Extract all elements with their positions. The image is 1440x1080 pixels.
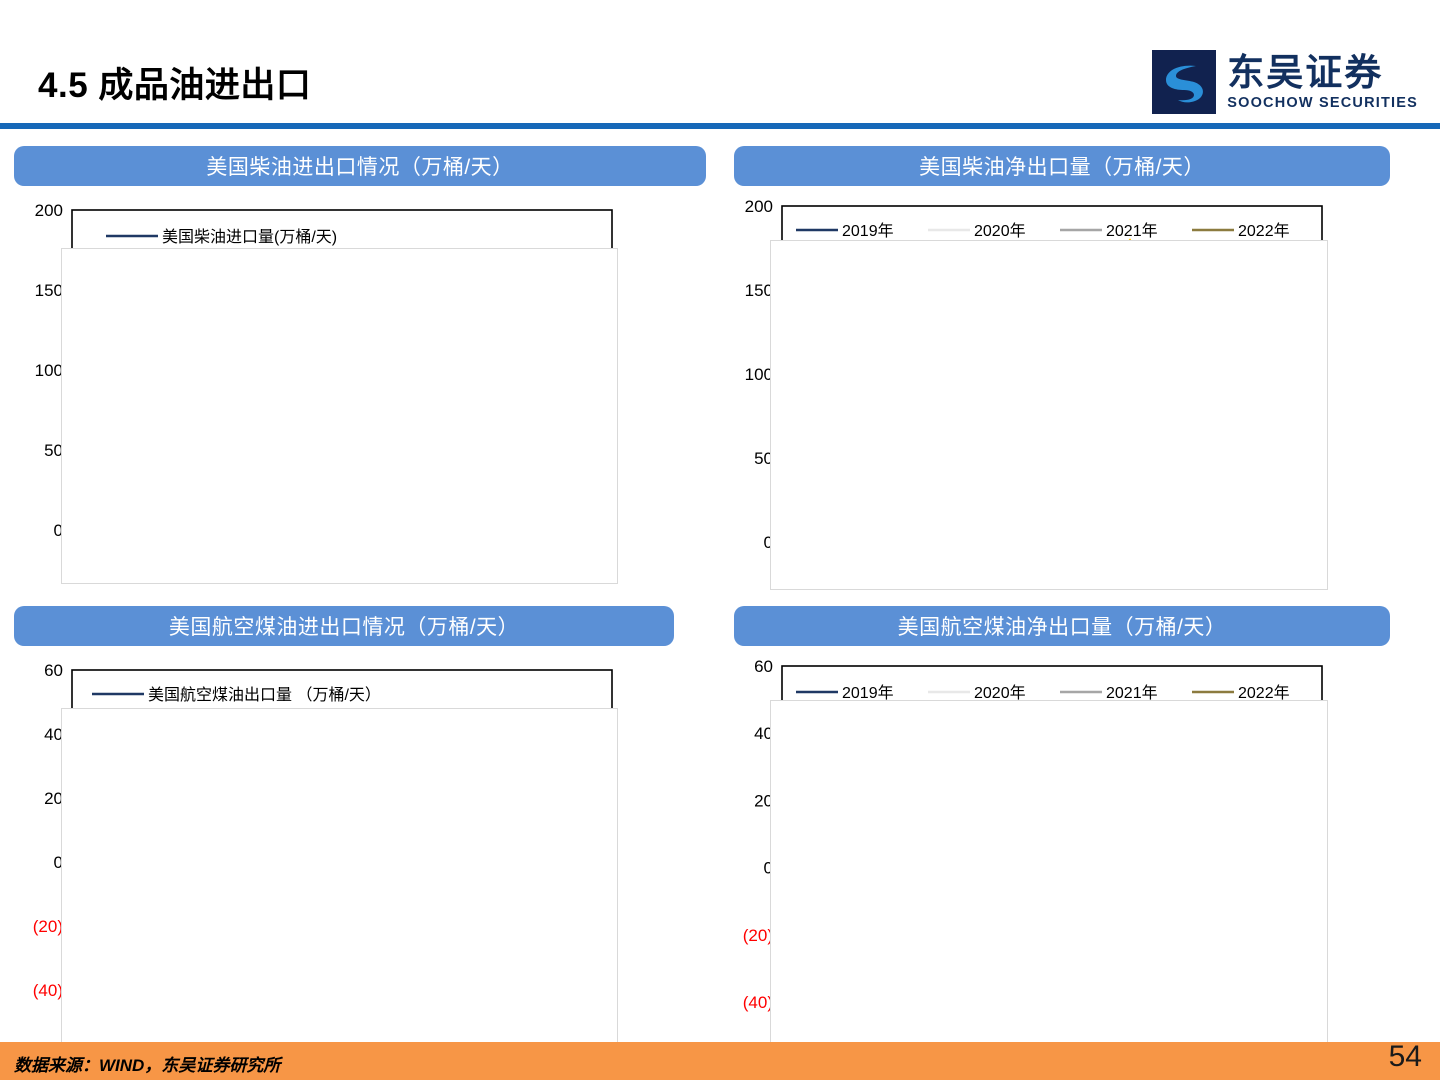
svg-text:150: 150 [745,281,773,300]
company-logo: 东吴证券 SOOCHOW SECURITIES [1152,50,1418,114]
chart-plot-3: (40)(20)02040601月2月3月4月5月6月7月8月9月10月11月1… [734,656,1426,1056]
chart-banner-1: 美国柴油净出口量（万桶/天） [734,146,1390,186]
svg-text:美国航空煤油出口量 （万桶/天）: 美国航空煤油出口量 （万桶/天） [148,686,381,704]
chart-plot-2: (40)(20)02040602011201220132014201520162… [14,656,706,1056]
chart-plot-0: 0501001502002011201220132014201520162017… [14,196,706,596]
svg-text:(40): (40) [743,993,773,1012]
chart-card-us-jet-fuel-import-export: 美国航空煤油进出口情况（万桶/天） (40)(20)02040602011201… [14,606,706,1036]
svg-text:2022年: 2022年 [1238,222,1290,240]
chart-banner-0: 美国柴油进出口情况（万桶/天） [14,146,706,186]
logo-wordmark: 东吴证券 SOOCHOW SECURITIES [1227,50,1418,114]
svg-text:60: 60 [754,657,773,676]
logo-swoosh-icon [1152,50,1216,114]
svg-text:(40): (40) [33,981,63,1000]
svg-text:150: 150 [35,281,63,300]
svg-text:200: 200 [745,197,773,216]
page-title: 4.5 成品油进出口 [38,57,311,108]
svg-text:100: 100 [35,361,63,380]
svg-text:2020年: 2020年 [974,222,1026,240]
chart-card-us-jet-fuel-net-export: 美国航空煤油净出口量（万桶/天） (40)(20)02040601月2月3月4月… [734,606,1426,1036]
chart-banner-3: 美国航空煤油净出口量（万桶/天） [734,606,1390,646]
svg-text:(20): (20) [33,917,63,936]
slide-header: 4.5 成品油进出口 东吴证券 SOOCHOW SECURITIES [0,0,1440,124]
svg-text:100: 100 [745,365,773,384]
chart-banner-2: 美国航空煤油进出口情况（万桶/天） [14,606,674,646]
logo-text-cn: 东吴证券 [1227,54,1418,91]
chart-card-us-diesel-import-export: 美国柴油进出口情况（万桶/天） 050100150200201120122013… [14,146,706,566]
svg-text:(20): (20) [743,926,773,945]
chart-plot-1: 0501001502001月2月3月4月5月6月7月8月9月10月11月12月2… [734,196,1426,596]
header-divider [0,123,1440,129]
footer-bar: 数据来源：WIND，东吴证券研究所 54 [0,1042,1440,1080]
svg-text:60: 60 [44,661,63,680]
data-source-note: 数据来源：WIND，东吴证券研究所 [14,1051,280,1076]
svg-text:2019年: 2019年 [842,222,894,240]
svg-text:200: 200 [35,201,63,220]
page-number: 54 [1389,1040,1422,1074]
svg-text:美国柴油进口量(万桶/天): 美国柴油进口量(万桶/天) [162,228,337,246]
soochow-logo-mark [1152,50,1216,114]
chart-card-us-diesel-net-export: 美国柴油净出口量（万桶/天） 0501001502001月2月3月4月5月6月7… [734,146,1426,566]
logo-text-en: SOOCHOW SECURITIES [1227,96,1418,111]
svg-text:2021年: 2021年 [1106,222,1158,240]
